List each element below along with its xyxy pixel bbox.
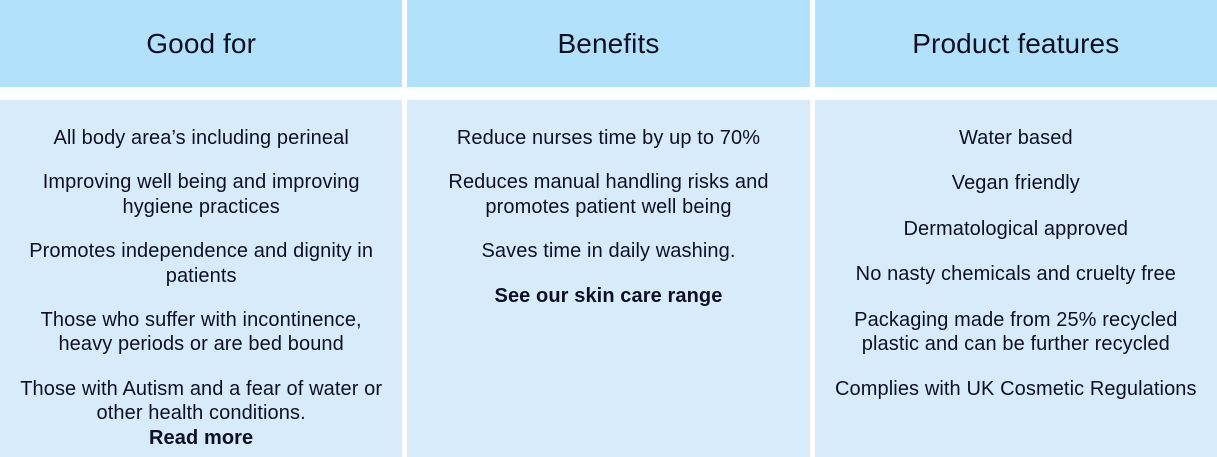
column-item-list: All body area’s including perineal Impro…	[14, 126, 388, 450]
list-item: No nasty chemicals and cruelty free	[829, 262, 1203, 286]
column-body-benefits: Reduce nurses time by up to 70% Reduces …	[407, 100, 809, 457]
list-item: Water based	[829, 126, 1203, 150]
list-item: Vegan friendly	[829, 171, 1203, 195]
list-item: Saves time in daily washing.	[421, 239, 795, 263]
read-more-link[interactable]: Read more	[14, 426, 388, 450]
column-header-label: Benefits	[558, 27, 660, 61]
column-body-product-features: Water based Vegan friendly Dermatologica…	[815, 100, 1217, 457]
list-item: Promotes independence and dignity in pat…	[14, 239, 388, 288]
column-header-label: Product features	[912, 27, 1119, 61]
column-body-good-for: All body area’s including perineal Impro…	[0, 100, 402, 457]
table-header-row: Good for Benefits Product features	[0, 0, 1217, 87]
column-header-label: Good for	[146, 27, 256, 61]
list-item: Dermatological approved	[829, 217, 1203, 241]
column-item-list: Reduce nurses time by up to 70% Reduces …	[421, 126, 795, 308]
column-header-product-features: Product features	[815, 0, 1217, 87]
table-body-row: All body area’s including perineal Impro…	[0, 100, 1217, 457]
list-item: Those who suffer with incontinence, heav…	[14, 308, 388, 357]
column-header-good-for: Good for	[0, 0, 402, 87]
list-item: Complies with UK Cosmetic Regulations	[829, 377, 1203, 401]
list-item: Reduces manual handling risks and promot…	[421, 170, 795, 219]
comparison-table: Good for Benefits Product features All b…	[0, 0, 1217, 457]
list-item: Reduce nurses time by up to 70%	[421, 126, 795, 150]
list-item: All body area’s including perineal	[14, 126, 388, 150]
column-header-benefits: Benefits	[407, 0, 809, 87]
list-item: Improving well being and improving hygie…	[14, 170, 388, 219]
list-item: Those with Autism and a fear of water or…	[14, 377, 388, 426]
list-item: Packaging made from 25% recycled plastic…	[829, 308, 1203, 357]
skin-care-range-link[interactable]: See our skin care range	[421, 284, 795, 308]
header-body-divider	[0, 87, 1217, 100]
column-item-list: Water based Vegan friendly Dermatologica…	[829, 126, 1203, 423]
